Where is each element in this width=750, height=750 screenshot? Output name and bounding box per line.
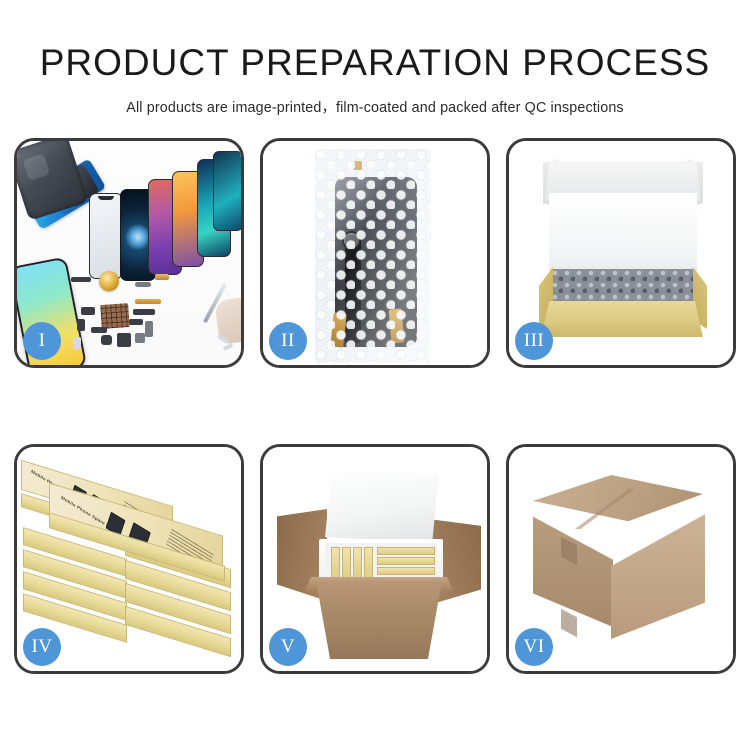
page-title: PRODUCT PREPARATION PROCESS — [0, 44, 750, 81]
teal-phone-back-icon — [213, 151, 241, 231]
phone-housing-icon — [17, 141, 89, 221]
step-badge-1: I — [23, 322, 61, 360]
page-subtitle: All products are image-printed，film-coat… — [0, 96, 750, 117]
step-panel-6[interactable]: VI — [506, 444, 736, 674]
carton-body — [311, 583, 447, 659]
bag-sheen — [315, 149, 431, 363]
chip-grid-icon — [100, 303, 130, 329]
box-interior — [549, 193, 697, 275]
screen-glass-icon — [89, 193, 123, 279]
carton-right-face — [611, 509, 705, 639]
step-panel-3[interactable]: III — [506, 138, 736, 368]
styrofoam-lid — [325, 469, 439, 543]
step-badge-2: II — [269, 322, 307, 360]
part-connector-icon — [133, 309, 155, 315]
part-gold-icon — [155, 274, 169, 280]
step-panel-1[interactable]: I — [14, 138, 244, 368]
part-camera-icon — [117, 333, 131, 347]
part-frame-icon — [145, 321, 153, 337]
carton-tape-lower — [561, 609, 577, 638]
flex-cable-icon — [135, 299, 161, 304]
part-small-icon — [81, 307, 95, 315]
box-front-panel — [541, 301, 703, 337]
part-strip-icon — [71, 277, 91, 282]
step-panel-2[interactable]: II — [260, 138, 490, 368]
product-preparation-infographic: PRODUCT PREPARATION PROCESS All products… — [0, 0, 750, 750]
step-badge-5: V — [269, 628, 307, 666]
part-white-icon — [73, 337, 81, 349]
part-bracket2-icon — [129, 319, 143, 325]
step-badge-4: IV — [23, 628, 61, 666]
step-panel-4[interactable]: Mobile Phone Spare Parts Mobile Phone Sp… — [14, 444, 244, 674]
screw-2-icon — [223, 343, 234, 351]
part-bracket-icon — [135, 282, 151, 287]
packed-box-h3 — [377, 567, 435, 575]
step-panel-5[interactable]: V — [260, 444, 490, 674]
packed-box-h1 — [377, 547, 435, 555]
part-speaker-icon — [101, 335, 112, 345]
part-tiny-icon — [77, 319, 85, 331]
part-bar-icon — [91, 327, 107, 333]
copper-coil-icon — [99, 271, 119, 291]
part-button-icon — [135, 333, 145, 343]
packed-box-h2 — [377, 557, 435, 565]
bubble-wrap-bag — [315, 149, 431, 363]
step-badge-6: VI — [515, 628, 553, 666]
grey-foam-insert — [551, 269, 695, 305]
carton-left-face — [533, 507, 613, 627]
header: PRODUCT PREPARATION PROCESS All products… — [0, 0, 750, 117]
step-badge-3: III — [515, 322, 553, 360]
